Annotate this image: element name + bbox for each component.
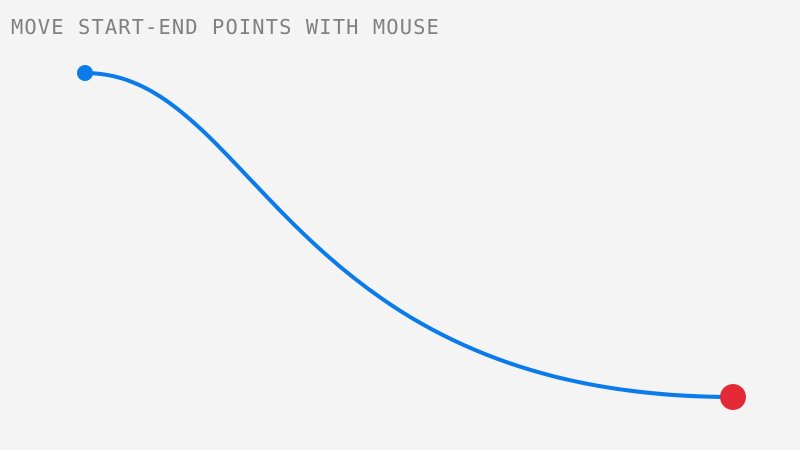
canvas-stage[interactable]: MOVE START-END POINTS WITH MOUSE — [0, 0, 800, 450]
bezier-canvas[interactable] — [0, 0, 800, 450]
start-point-drag-target[interactable] — [73, 61, 97, 85]
end-point-drag-target[interactable] — [716, 380, 750, 414]
bezier-curve-path — [85, 73, 733, 397]
